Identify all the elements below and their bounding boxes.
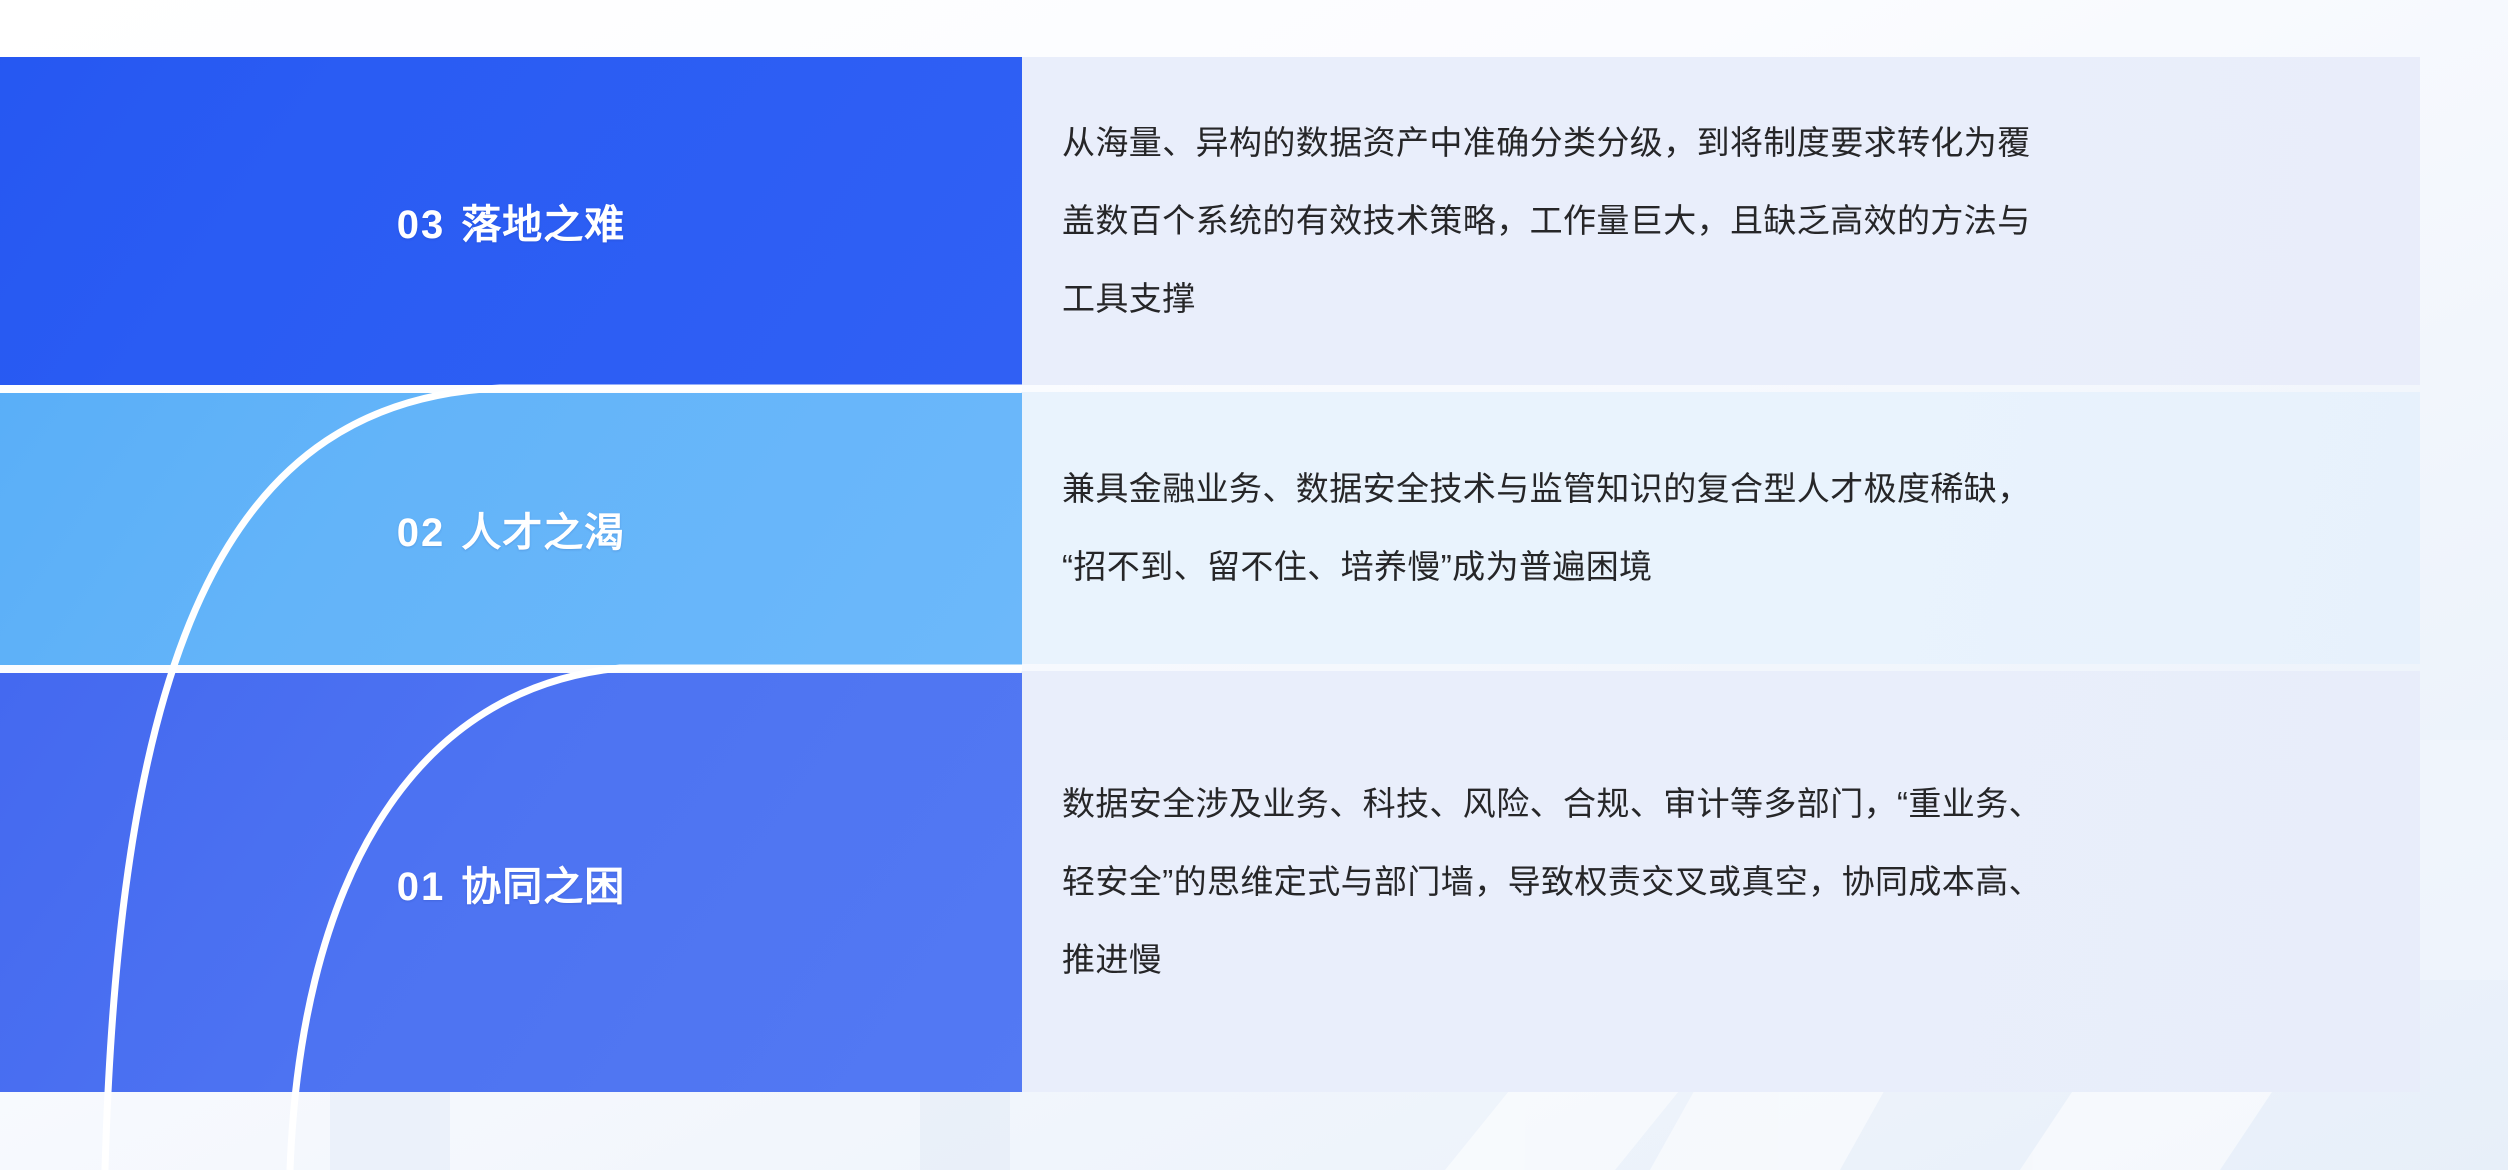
panel-02-line-1: 兼具金融业务、数据安全技术与监管知识的复合型人才极度稀缺，: [1062, 450, 2382, 528]
panel-01-line-3: 推进慢: [1062, 921, 2382, 999]
arc-title-03: 落地之难: [461, 203, 625, 247]
arc-label-01: 01协同之困: [0, 854, 1022, 912]
panel-03-line-3: 工具支撑: [1062, 260, 2382, 338]
arc-label-02: 02人才之渴: [0, 500, 1022, 558]
arc-band-03[interactable]: 03落地之难: [0, 57, 1022, 385]
arc-band-02[interactable]: 02人才之渴: [0, 393, 1022, 665]
arc-band-group: 03落地之难 02人才之渴 01协同之困: [0, 0, 1080, 1170]
arc-number-01: 01: [397, 865, 446, 909]
infographic-canvas: 从海量、异构的数据资产中准确分类分级，到将制度要求转化为覆 盖数百个系统的有效技…: [0, 0, 2508, 1170]
arc-label-03: 03落地之难: [0, 192, 1022, 250]
arc-band-01[interactable]: 01协同之困: [0, 673, 1022, 1092]
text-panel-01: 数据安全涉及业务、科技、风险、合规、审计等多部门，“重业务、 轻安全”的思维定式…: [1021, 671, 2420, 1092]
text-panel-02: 兼具金融业务、数据安全技术与监管知识的复合型人才极度稀缺， “招不到、留不住、培…: [1021, 392, 2420, 664]
text-panel-group: 从海量、异构的数据资产中准确分类分级，到将制度要求转化为覆 盖数百个系统的有效技…: [1021, 57, 2420, 1092]
panel-02-line-2: “招不到、留不住、培养慢”成为普遍困境: [1062, 528, 2382, 606]
arc-number-03: 03: [397, 203, 446, 247]
panel-01-line-1: 数据安全涉及业务、科技、风险、合规、审计等多部门，“重业务、: [1062, 765, 2382, 843]
arc-number-02: 02: [397, 511, 446, 555]
arc-title-01: 协同之困: [461, 865, 625, 909]
arc-title-02: 人才之渴: [461, 511, 625, 555]
text-panel-03: 从海量、异构的数据资产中准确分类分级，到将制度要求转化为覆 盖数百个系统的有效技…: [1021, 57, 2420, 385]
panel-01-line-2: 轻安全”的思维定式与部门墙，导致权责交叉或真空，协同成本高、: [1062, 843, 2382, 921]
panel-03-line-1: 从海量、异构的数据资产中准确分类分级，到将制度要求转化为覆: [1062, 104, 2382, 182]
panel-03-line-2: 盖数百个系统的有效技术策略，工作量巨大，且缺乏高效的方法与: [1062, 182, 2382, 260]
